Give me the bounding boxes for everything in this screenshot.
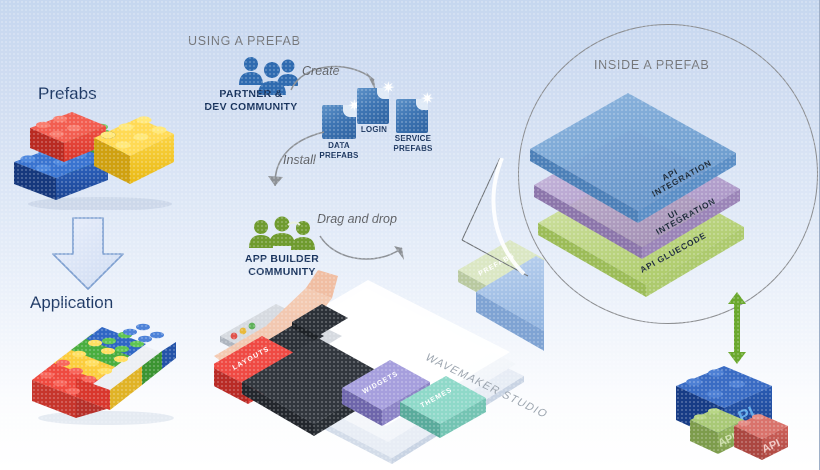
down-block-arrow-icon (47, 216, 129, 292)
prefab-star-icon: ✷ (421, 92, 434, 108)
prefabs-lego-cluster (8, 100, 183, 210)
drag-and-drop-label: Drag and drop (317, 212, 397, 226)
heading-inside-a-prefab: INSIDE A PREFAB (594, 58, 709, 72)
application-label: Application (30, 293, 113, 313)
partner-line-1: PARTNER & (219, 88, 282, 100)
prefab-card-login-line1: LOGIN (361, 125, 387, 134)
partner-line-2: DEV COMMUNITY (204, 101, 297, 113)
install-label: Install (283, 153, 316, 167)
prefab-card-service[interactable]: ✷ SERVICE PREFABS (396, 99, 428, 133)
heading-using-a-prefab: USING A PREFAB (188, 34, 301, 48)
prefab-card-service-label: SERVICE PREFABS (386, 134, 440, 154)
infographic-canvas: Prefabs (0, 0, 820, 470)
prefab-card-service-line1: SERVICE (395, 134, 431, 143)
prefab-card-data-line1: DATA (328, 141, 350, 150)
prefab-card-login[interactable]: ✷ LOGIN (357, 88, 389, 124)
prefab-star-icon: ✷ (382, 81, 395, 97)
application-lego-plate (24, 318, 184, 428)
api-brick-red: API (734, 414, 788, 460)
api-lego-bricks: API API API (668, 362, 808, 462)
create-label: Create (302, 64, 340, 78)
double-headed-vertical-arrow-icon (726, 292, 748, 364)
prefab-card-service-line2: PREFABS (393, 144, 432, 153)
prefab-layer-stack: API INTEGRATION UI INTEGRATION API GLUEC… (530, 85, 820, 300)
